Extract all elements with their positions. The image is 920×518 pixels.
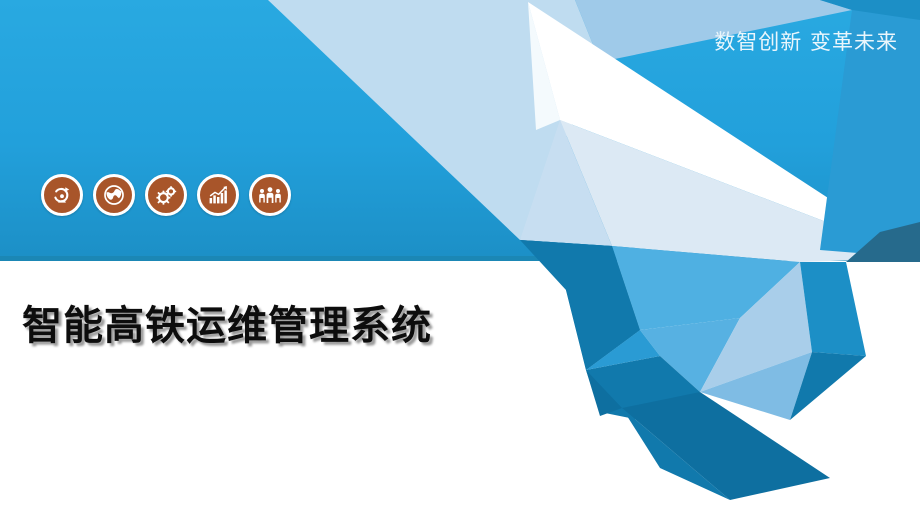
page-title: 智能高铁运维管理系统 <box>22 293 432 351</box>
icon-badge-row <box>41 174 291 216</box>
slide-canvas: 数智创新 变革未来 <box>0 0 920 518</box>
people-group-icon[interactable] <box>249 174 291 216</box>
gears-icon[interactable] <box>145 174 187 216</box>
tagline-text: 数智创新 变革未来 <box>714 26 898 56</box>
recycle-person-icon[interactable] <box>41 174 83 216</box>
bar-chart-growth-icon[interactable] <box>197 174 239 216</box>
low-poly-artwork <box>0 0 920 518</box>
globe-icon[interactable] <box>93 174 135 216</box>
